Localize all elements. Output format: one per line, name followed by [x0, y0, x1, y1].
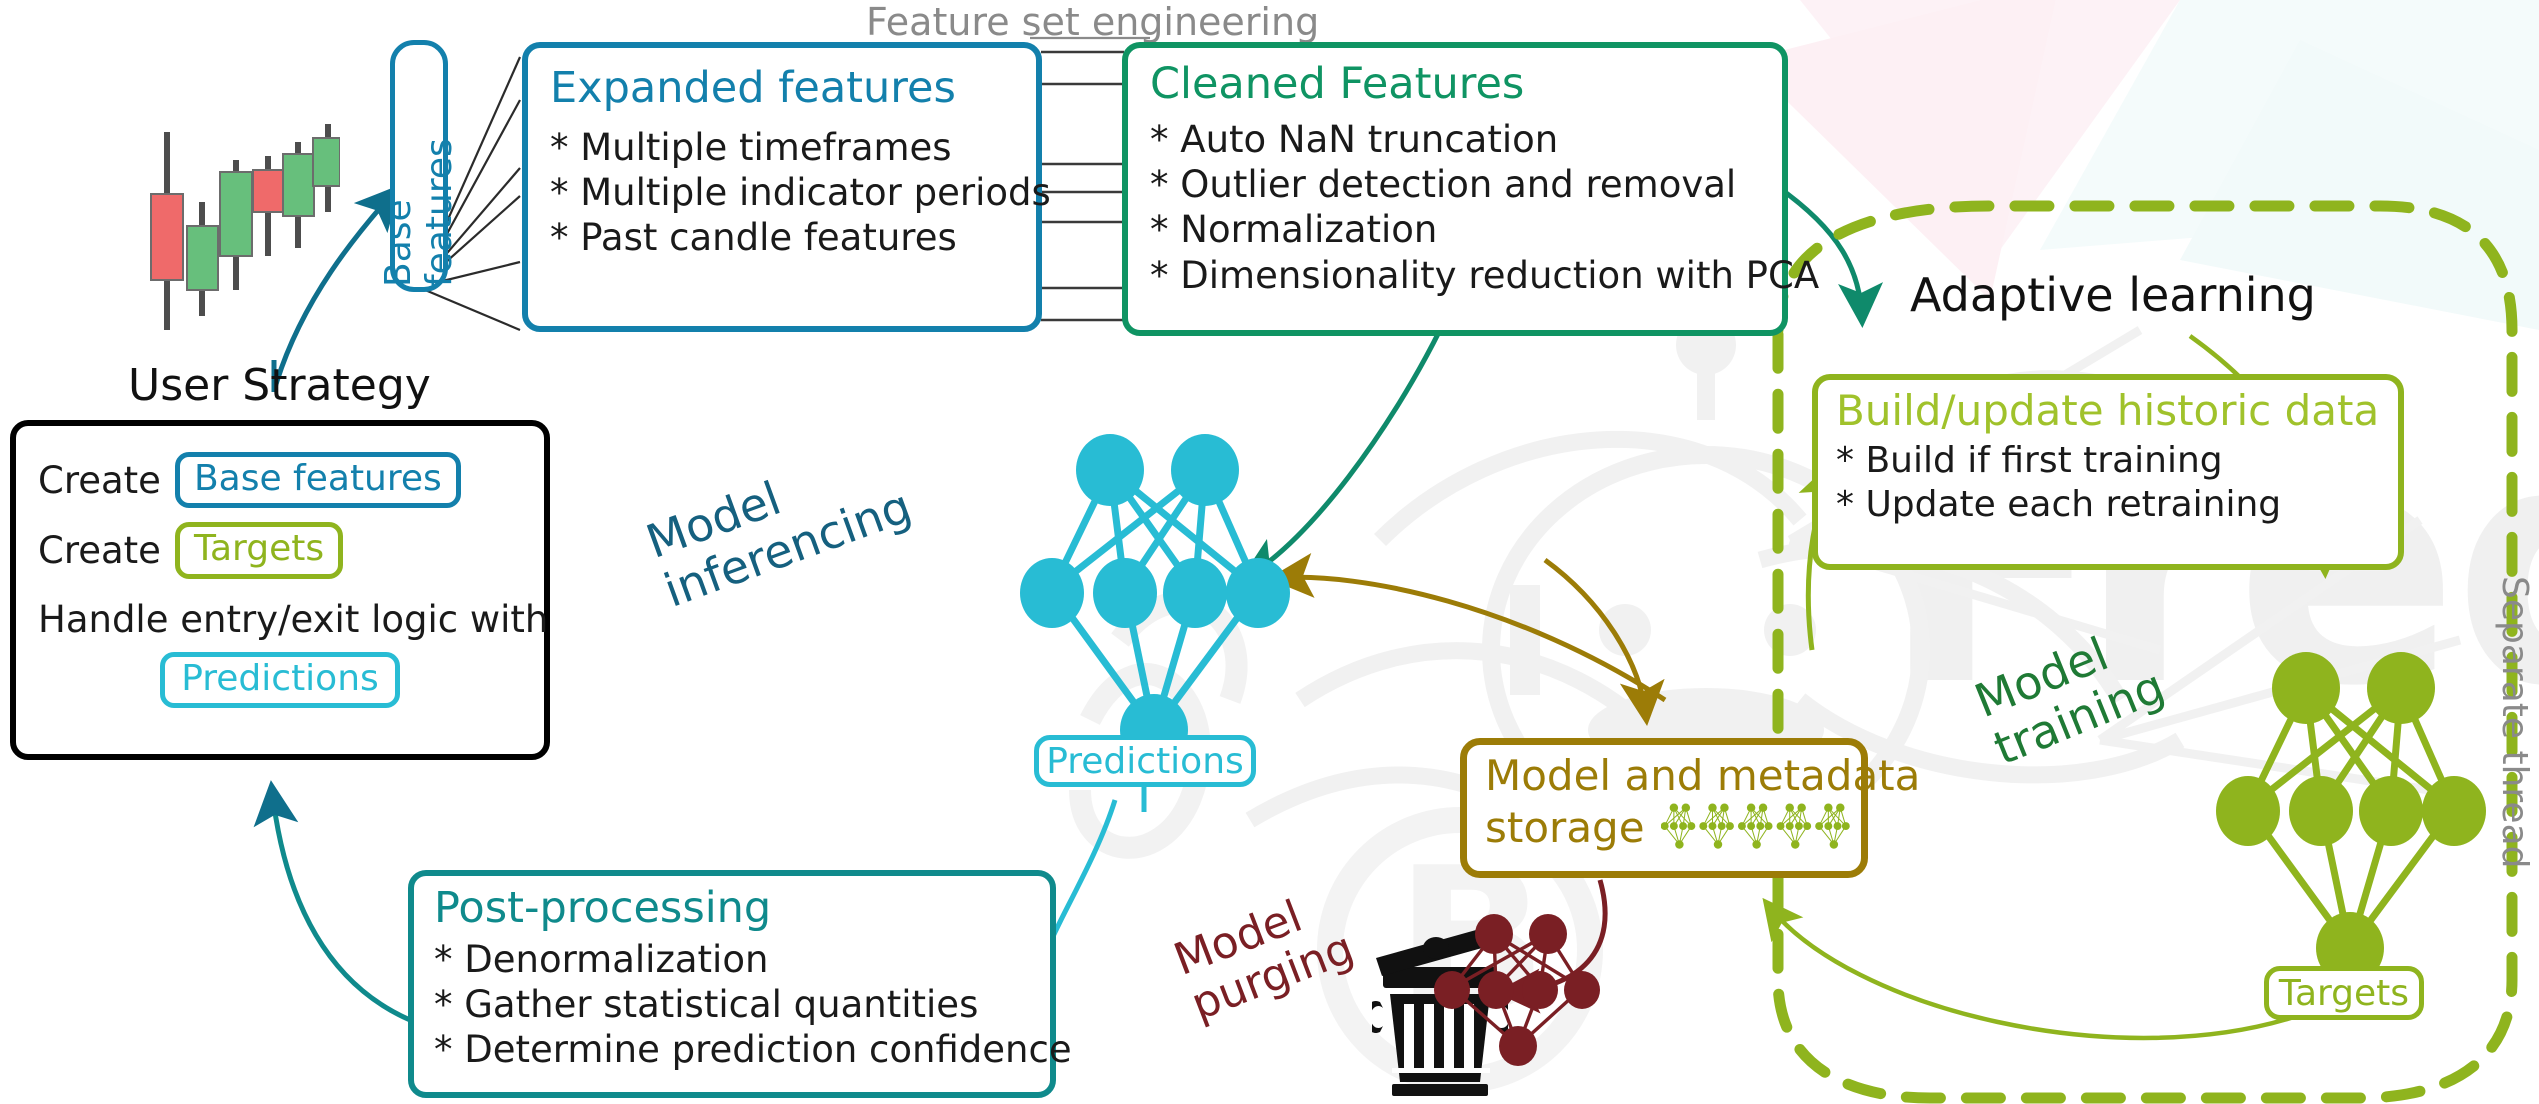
box-build-update-title: Build/update historic data — [1836, 386, 2398, 435]
pill-targets-training[interactable]: Targets — [2264, 966, 2424, 1020]
box-cleaned-features: Cleaned Features * Auto NaN truncation *… — [1122, 42, 1788, 336]
pill-predictions-strategy-label: Predictions — [181, 658, 379, 699]
box-cleaned-features-item-2: * Normalization — [1150, 207, 1782, 252]
box-cleaned-features-item-0: * Auto NaN truncation — [1150, 117, 1782, 162]
pill-predictions-inference[interactable]: Predictions — [1034, 735, 1256, 787]
box-post-processing-item-1: * Gather statistical quantities — [434, 982, 1050, 1027]
neural-network-olive-icon — [1661, 800, 1861, 854]
pill-base-features-inline-label: Base features — [194, 458, 442, 499]
pill-targets-strategy-label: Targets — [194, 528, 324, 569]
box-post-processing-item-0: * Denormalization — [434, 937, 1050, 982]
box-model-storage-line-1: Model and metadata — [1485, 751, 1861, 800]
model-training-label: Model training — [1968, 613, 2171, 774]
box-cleaned-features-title: Cleaned Features — [1150, 62, 1782, 107]
trash-can-icon — [1372, 918, 1508, 1098]
user-strategy-line-2: Create Targets — [38, 522, 544, 578]
user-strategy-line-2-prefix: Create — [38, 528, 161, 573]
box-expanded-features-item-0: * Multiple timeframes — [550, 125, 1036, 170]
user-strategy-line-1: Create Base features — [38, 452, 544, 508]
diagram-canvas: FreqAI — [0, 0, 2539, 1104]
box-post-processing-item-2: * Determine prediction confidence — [434, 1027, 1050, 1072]
box-model-storage: Model and metadata storage — [1460, 738, 1868, 878]
box-cleaned-features-item-1: * Outlier detection and removal — [1150, 162, 1782, 207]
pill-predictions-inference-label: Predictions — [1046, 741, 1244, 782]
box-expanded-features: Expanded features * Multiple timeframes … — [522, 42, 1042, 332]
box-expanded-features-title: Expanded features — [550, 66, 1036, 111]
pill-base-features-inline[interactable]: Base features — [175, 452, 461, 508]
box-cleaned-features-item-3: * Dimensionality reduction with PCA — [1150, 253, 1782, 298]
user-strategy-line-4: Predictions — [16, 652, 544, 708]
candlestick-chart-icon — [140, 120, 340, 360]
pill-targets-strategy[interactable]: Targets — [175, 522, 343, 578]
box-post-processing-title: Post-processing — [434, 886, 1050, 931]
box-expanded-features-item-2: * Past candle features — [550, 215, 1036, 260]
box-expanded-features-item-1: * Multiple indicator periods — [550, 170, 1036, 215]
box-build-update-item-0: * Build if first training — [1836, 439, 2398, 483]
box-build-update-historic-data: Build/update historic data * Build if fi… — [1812, 374, 2404, 570]
model-purging-label: Model purging — [1168, 879, 1361, 1030]
pill-base-features-vertical[interactable]: Base features — [390, 40, 448, 292]
neural-network-olive-large-icon — [2216, 648, 2486, 1008]
pill-base-features-vertical-label: Base features — [378, 45, 460, 287]
feature-set-engineering-label: Feature set engineering — [866, 0, 1319, 44]
user-strategy-title: User Strategy — [128, 360, 431, 411]
separate-thread-label: Separate thread — [2494, 576, 2535, 868]
pill-predictions-strategy[interactable]: Predictions — [160, 652, 400, 708]
pill-targets-training-label: Targets — [2279, 973, 2409, 1014]
box-model-storage-line-2: storage — [1485, 803, 1645, 852]
box-post-processing: Post-processing * Denormalization * Gath… — [408, 870, 1056, 1098]
adaptive-learning-title: Adaptive learning — [1910, 268, 2316, 322]
box-build-update-item-1: * Update each retraining — [1836, 483, 2398, 527]
box-user-strategy: Create Base features Create Targets Hand… — [10, 420, 550, 760]
user-strategy-line-1-prefix: Create — [38, 458, 161, 503]
neural-network-maroon-icon — [1430, 910, 1610, 1070]
user-strategy-line-3: Handle entry/exit logic with — [38, 597, 544, 642]
model-inferencing-label: Model inferencing — [640, 432, 918, 617]
